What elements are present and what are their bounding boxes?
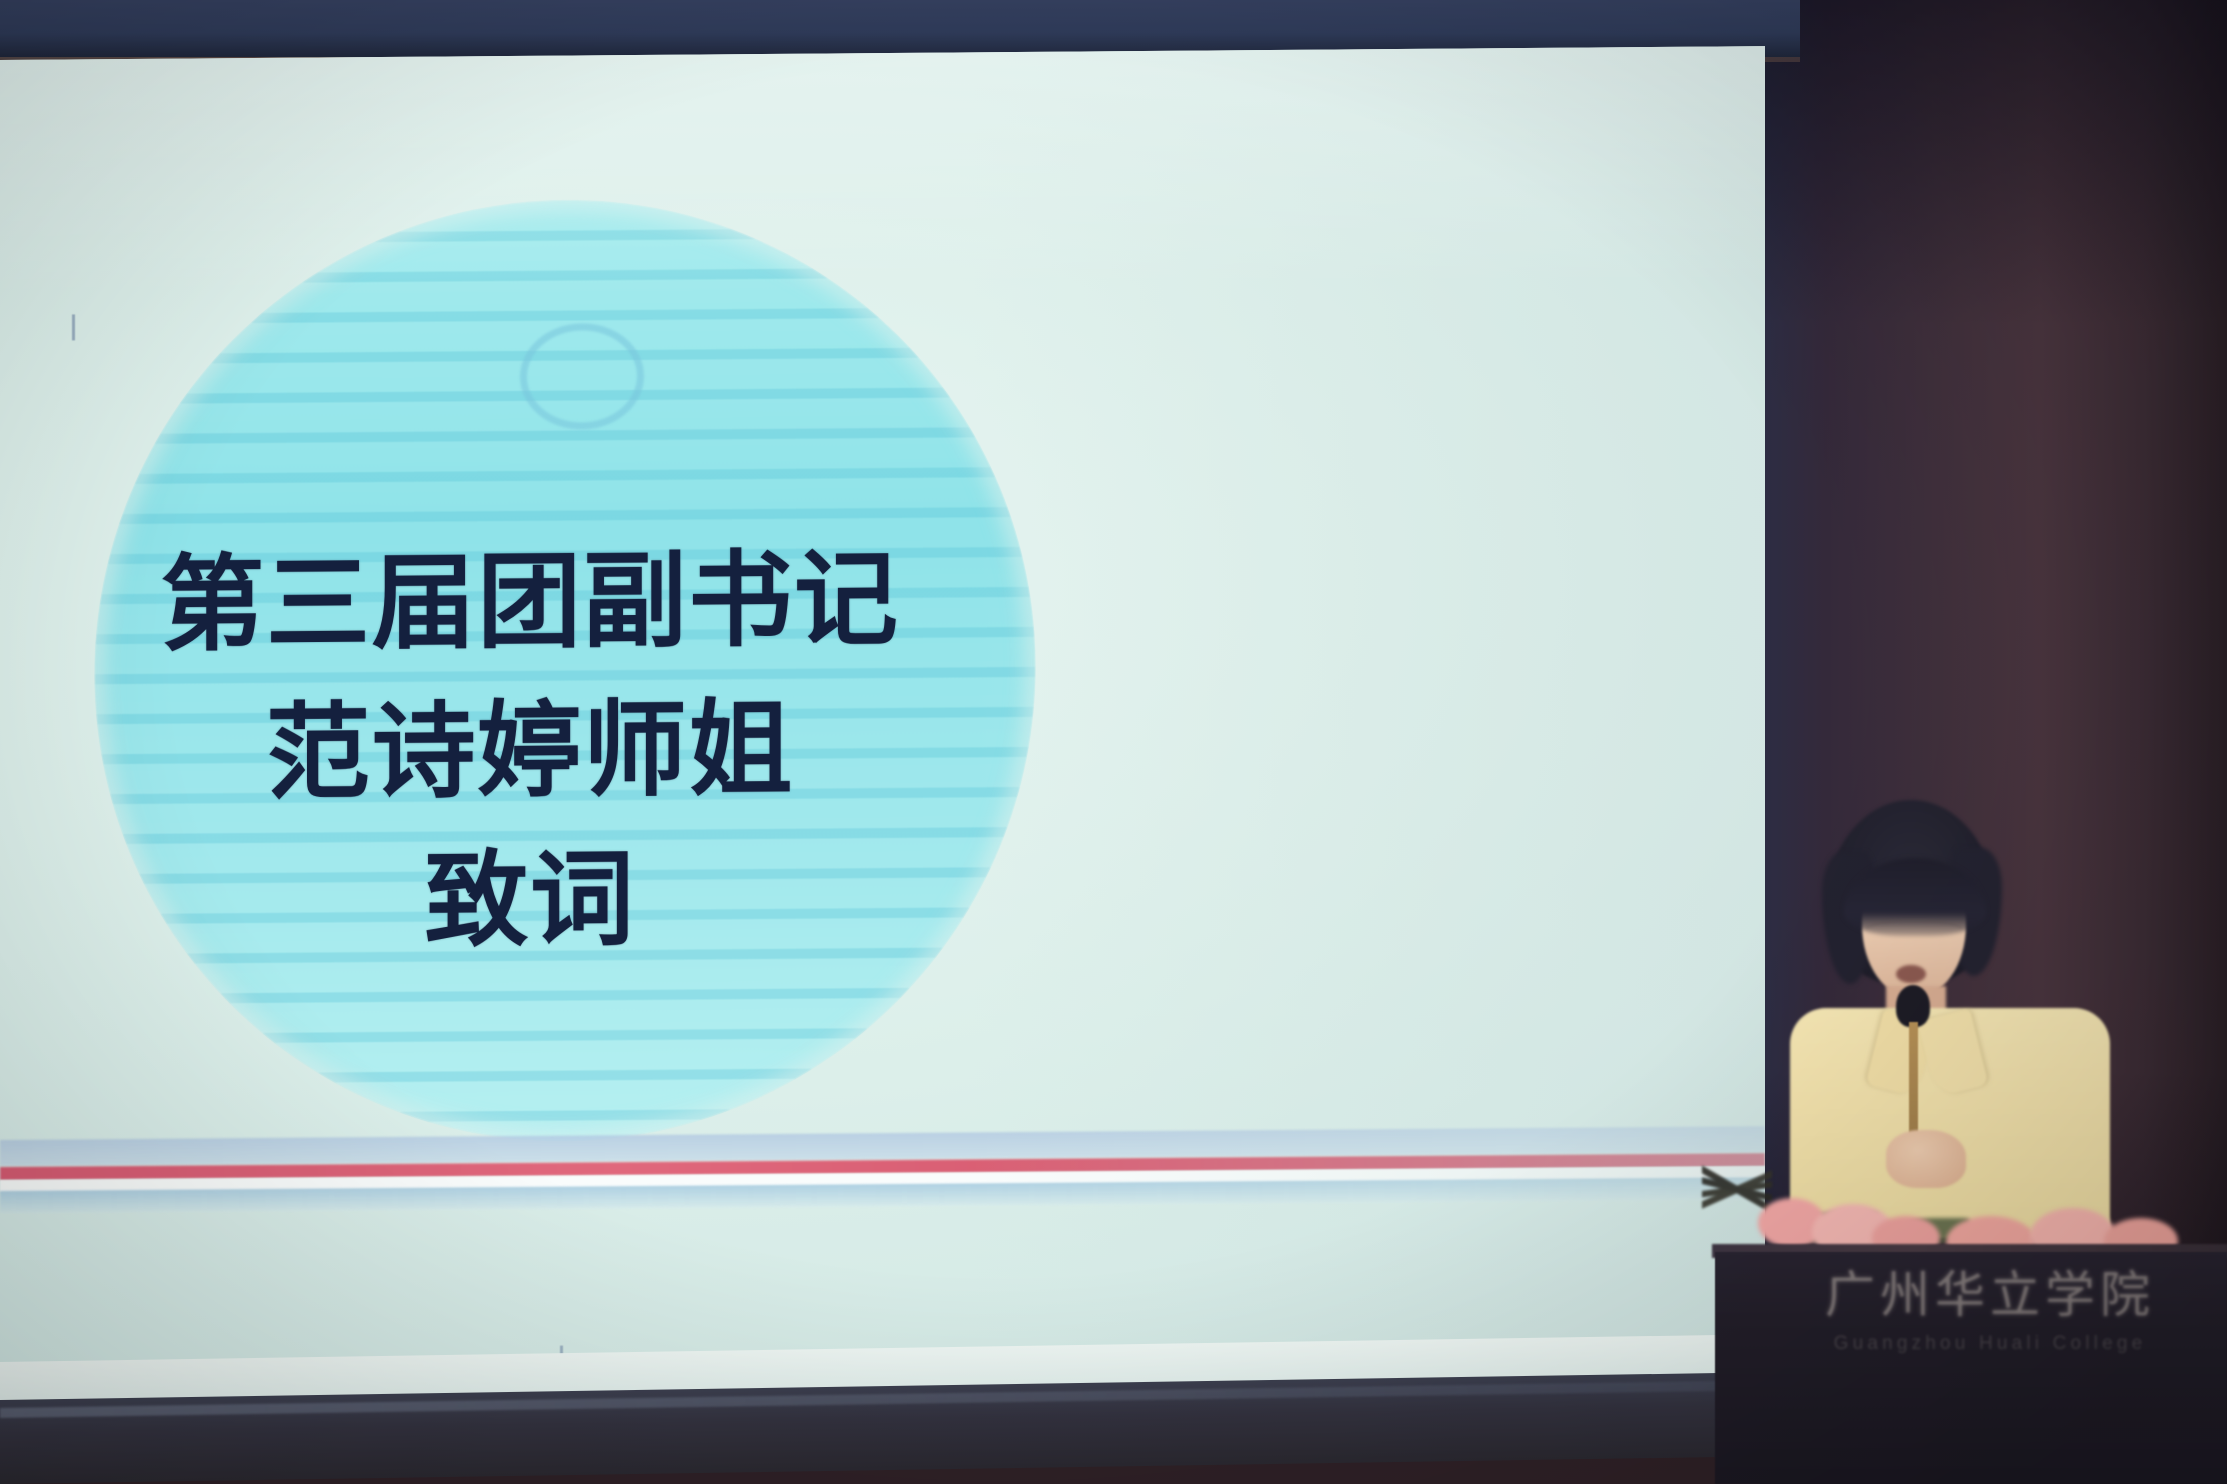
projector-artifact <box>72 314 75 340</box>
glasses-icon <box>1866 920 1962 944</box>
slide-line-1: 第三届团副书记 <box>0 531 1100 671</box>
podium-name-en: Guangzhou Huali College <box>1790 1333 2190 1355</box>
podium-nameplate: 广州华立学院 Guangzhou Huali College <box>1790 1255 2190 1355</box>
slide-line-2: 范诗婷师姐 <box>0 680 1100 820</box>
speaker-mouth <box>1896 965 1926 983</box>
projection-screen: 第三届团副书记 范诗婷师姐 致词 <box>0 46 1765 1400</box>
podium-name-cn: 广州华立学院 <box>1790 1255 2190 1327</box>
circle-outline-icon <box>520 323 644 430</box>
slide-line-3: 致词 <box>0 829 1100 969</box>
slide-title-block: 第三届团副书记 范诗婷师姐 致词 <box>0 531 1100 969</box>
microphone-icon <box>1896 985 1930 1027</box>
slide-decorative-band <box>0 1126 1765 1226</box>
auditorium-photo: 第三届团副书记 范诗婷师姐 致词 <box>0 0 2227 1484</box>
